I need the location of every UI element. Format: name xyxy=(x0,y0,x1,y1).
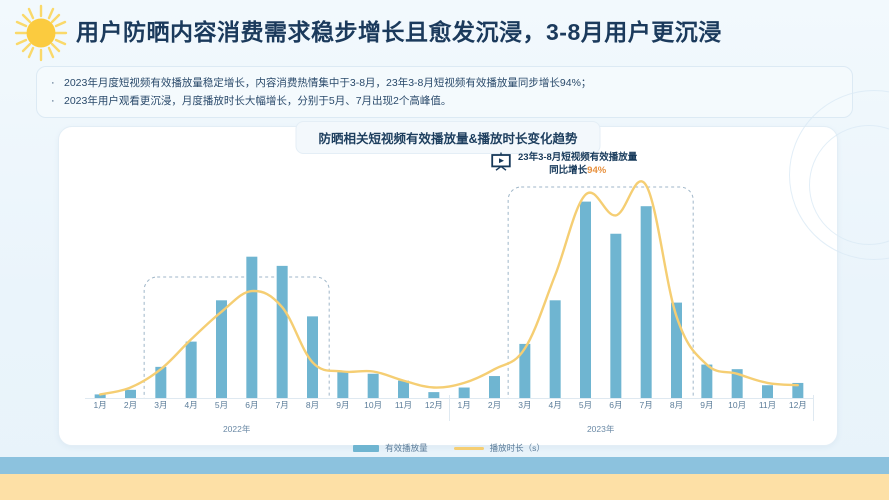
legend-item-bar[interactable]: 有效播放量 xyxy=(353,442,428,454)
bar-5[interactable] xyxy=(246,257,257,399)
x-axis-label: 12月 xyxy=(789,399,807,411)
bar-20[interactable] xyxy=(701,365,712,399)
chart-legend: 有效播放量 播放时长（s） xyxy=(59,442,839,454)
bar-17[interactable] xyxy=(610,234,621,399)
x-axis-label: 10月 xyxy=(364,399,382,411)
annotation-growth-value: 94% xyxy=(587,165,606,176)
bar-3[interactable] xyxy=(186,342,197,399)
bar-15[interactable] xyxy=(550,300,561,399)
presentation-play-icon xyxy=(491,152,511,176)
legend-item-line[interactable]: 播放时长（s） xyxy=(454,442,545,454)
page-header: 用户防晒内容消费需求稳步增长且愈发沉浸，3-8月用户更沉浸 xyxy=(0,0,889,64)
x-axis-label: 4月 xyxy=(185,399,198,411)
legend-label-bar: 有效播放量 xyxy=(385,442,428,454)
bullet-list: · 2023年月度短视频有效播放量稳定增长，内容消费热情集中于3-8月，23年3… xyxy=(37,67,852,110)
year-divider xyxy=(449,395,450,421)
x-axis-label: 3月 xyxy=(518,399,531,411)
highlight-region xyxy=(144,277,329,399)
chart-title: 防晒相关短视频有效播放量&播放时长变化趋势 xyxy=(295,121,600,154)
x-axis-label: 7月 xyxy=(640,399,653,411)
bullet-text: 2023年用户观看更沉浸，月度播放时长大幅增长，分别于5月、7月出现2个高峰值。 xyxy=(64,92,451,110)
year-label: 2023年 xyxy=(587,423,614,435)
page-title: 用户防晒内容消费需求稳步增长且愈发沉浸，3-8月用户更沉浸 xyxy=(76,13,722,47)
bullet-marker: · xyxy=(51,92,64,110)
legend-swatch-line xyxy=(454,447,484,450)
chart-card: 防晒相关短视频有效播放量&播放时长变化趋势 23年3-8月短视频有效播放量 同比… xyxy=(58,126,838,446)
x-axis-label: 1月 xyxy=(94,399,107,411)
bar-6[interactable] xyxy=(277,266,288,399)
annotation-line-2-prefix: 同比增长 xyxy=(549,165,587,176)
list-item: · 2023年用户观看更沉浸，月度播放时长大幅增长，分别于5月、7月出现2个高峰… xyxy=(51,92,852,110)
x-axis-label: 2月 xyxy=(124,399,137,411)
summary-card: · 2023年月度短视频有效播放量稳定增长，内容消费热情集中于3-8月，23年3… xyxy=(36,66,853,118)
bar-8[interactable] xyxy=(337,371,348,399)
x-axis-label: 9月 xyxy=(336,399,349,411)
list-item: · 2023年月度短视频有效播放量稳定增长，内容消费热情集中于3-8月，23年3… xyxy=(51,74,852,92)
footer-band-blue xyxy=(0,457,889,474)
year-label: 2022年 xyxy=(223,423,250,435)
x-axis-label: 1月 xyxy=(458,399,471,411)
highlight-region xyxy=(508,187,693,399)
bar-22[interactable] xyxy=(762,385,773,399)
axis-end-tick xyxy=(813,395,814,421)
annotation-line-1: 23年3-8月短视频有效播放量 xyxy=(518,152,637,163)
x-axis-label: 10月 xyxy=(728,399,746,411)
annotation-text: 23年3-8月短视频有效播放量 同比增长94% xyxy=(518,151,637,177)
bullet-text: 2023年月度短视频有效播放量稳定增长，内容消费热情集中于3-8月，23年3-8… xyxy=(64,74,591,92)
chart-plot-area xyxy=(85,169,813,399)
x-axis-label: 12月 xyxy=(425,399,443,411)
bar-9[interactable] xyxy=(368,374,379,399)
x-axis-label: 11月 xyxy=(759,399,776,411)
x-axis-label: 2月 xyxy=(488,399,501,411)
bar-10[interactable] xyxy=(398,381,409,399)
x-axis-label: 3月 xyxy=(154,399,167,411)
sun-icon xyxy=(8,2,74,64)
x-axis-label: 4月 xyxy=(549,399,562,411)
x-axis-label: 9月 xyxy=(700,399,713,411)
footer-band-yellow xyxy=(0,474,889,500)
x-axis-label: 8月 xyxy=(670,399,683,411)
bar-13[interactable] xyxy=(489,376,500,399)
legend-label-line: 播放时长（s） xyxy=(490,442,545,454)
x-axis-label: 5月 xyxy=(579,399,592,411)
x-axis-label: 6月 xyxy=(609,399,622,411)
chart-annotation: 23年3-8月短视频有效播放量 同比增长94% xyxy=(491,151,637,177)
bar-18[interactable] xyxy=(641,206,652,399)
x-axis-label: 5月 xyxy=(215,399,228,411)
x-axis-label: 8月 xyxy=(306,399,319,411)
x-axis-label: 7月 xyxy=(276,399,289,411)
bar-16[interactable] xyxy=(580,202,591,399)
slide-page: 用户防晒内容消费需求稳步增长且愈发沉浸，3-8月用户更沉浸 · 2023年月度短… xyxy=(0,0,889,500)
x-axis-label: 11月 xyxy=(395,399,412,411)
bullet-marker: · xyxy=(51,74,64,92)
x-axis-label: 6月 xyxy=(245,399,258,411)
legend-swatch-bar xyxy=(353,445,379,452)
